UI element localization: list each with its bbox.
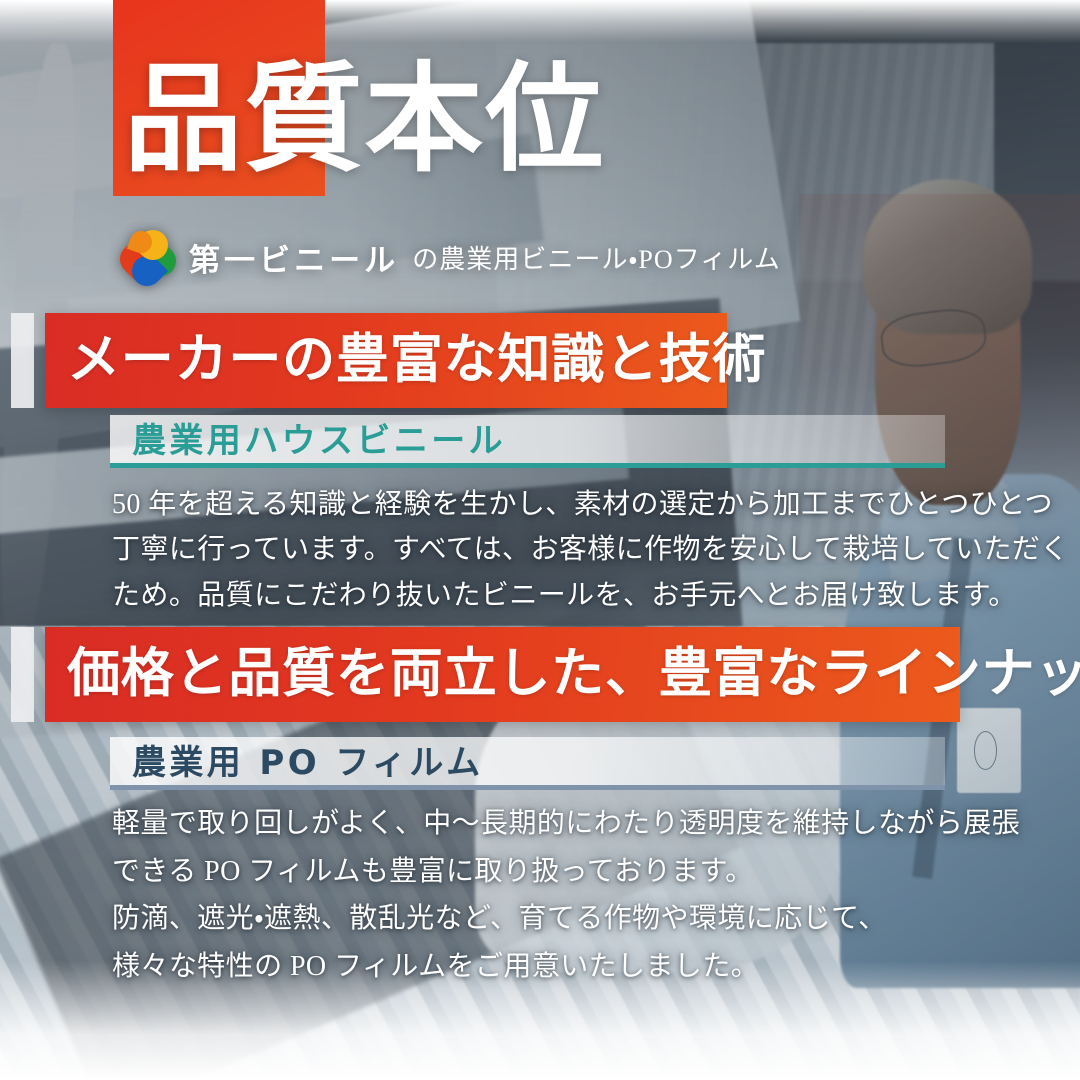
- subheading-vinyl-rule: [110, 463, 945, 468]
- ribbon-accent-tick-2: [11, 627, 34, 722]
- pinwheel-flower-logo-icon: [118, 228, 176, 286]
- paragraph-po: 軽量で取り回しがよく、中〜長期的にわたり透明度を維持しながら展張 できる PO …: [112, 800, 1020, 990]
- brand-line: 第一ビニール の農業用ビニール・POフィルム: [118, 228, 781, 286]
- subheading-po-rule: [110, 785, 945, 790]
- section-ribbon-vinyl: メーカーの豊富な知識と技術: [45, 313, 727, 408]
- subheading-vinyl-label: 農業用ハウスビニール: [110, 407, 506, 468]
- section-ribbon-po: 価格と品質を両立した、豊富なラインナップ: [45, 627, 960, 722]
- page-title: 品質本位: [124, 62, 605, 180]
- banner-content: 品質本位 第一ビニール の農業用ビニール・POフィルム メーカーの豊富な知識と技…: [0, 0, 1080, 1080]
- banner-canvas: 品質本位 第一ビニール の農業用ビニール・POフィルム メーカーの豊富な知識と技…: [0, 0, 1080, 1080]
- paragraph-po-line-3: 防滴、遮光・遮熱、散乱光など、育てる作物や環境に応じて、: [112, 895, 1020, 943]
- ribbon-accent-tick-1: [11, 313, 34, 408]
- subheading-po: 農業用 PO フィルム: [110, 737, 945, 790]
- brand-name: 第一ビニール: [189, 235, 399, 280]
- paragraph-po-line-1: 軽量で取り回しがよく、中〜長期的にわたり透明度を維持しながら展張: [112, 800, 1020, 848]
- paragraph-vinyl-line-2: 丁寧に行っています。すべては、お客様に作物を安心して栽培していただく: [112, 527, 1069, 572]
- brand-tagline: の農業用ビニール・POフィルム: [412, 239, 781, 276]
- paragraph-vinyl: 50 年を超える知識と経験を生かし、素材の選定から加工までひとつひとつ 丁寧に行…: [112, 482, 1069, 618]
- paragraph-vinyl-line-1: 50 年を超える知識と経験を生かし、素材の選定から加工までひとつひとつ: [112, 482, 1069, 527]
- subheading-vinyl: 農業用ハウスビニール: [110, 415, 945, 468]
- section-ribbon-po-label: 価格と品質を両立した、豊富なラインナップ: [45, 648, 1080, 701]
- section-ribbon-vinyl-label: メーカーの豊富な知識と技術: [45, 334, 766, 387]
- subheading-po-label: 農業用 PO フィルム: [110, 729, 484, 790]
- paragraph-vinyl-line-3: ため。品質にこだわり抜いたビニールを、お手元へとお届け致します。: [112, 573, 1069, 618]
- paragraph-po-line-2: できる PO フィルムも豊富に取り扱っております。: [112, 848, 1020, 896]
- paragraph-po-line-4: 様々な特性の PO フィルムをご用意いたしました。: [112, 943, 1020, 991]
